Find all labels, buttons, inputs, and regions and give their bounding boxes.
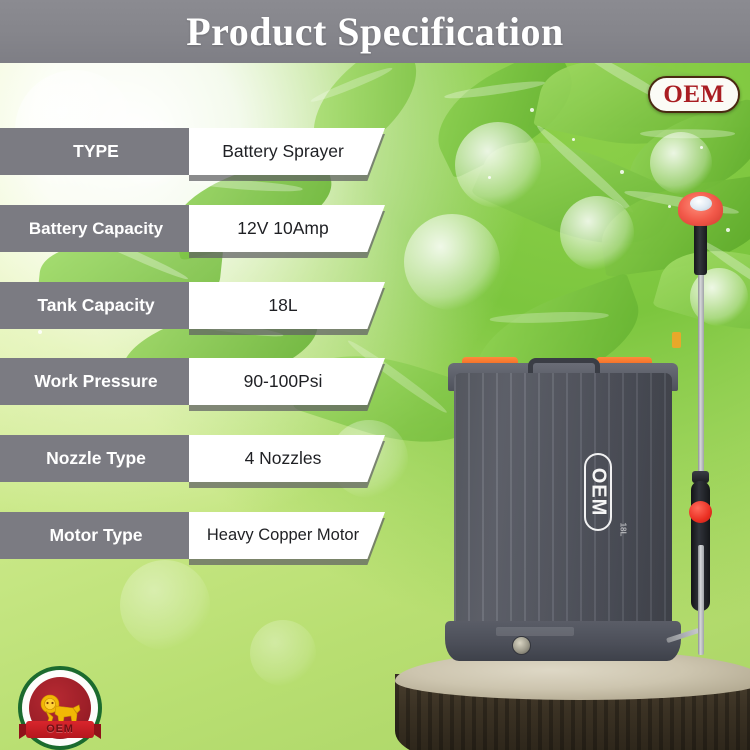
spec-label-motor-type: Motor Type: [0, 512, 192, 559]
spec-label-text: TYPE: [73, 142, 119, 160]
oem-badge: OEM: [648, 76, 740, 113]
oem-badge-label: OEM: [663, 82, 724, 107]
brand-logo: OEM: [18, 666, 102, 750]
spec-value-motor-type: Heavy Copper Motor: [189, 512, 385, 559]
nozzle-disc: [690, 196, 712, 211]
product-image-battery-sprayer: OEM 18L: [440, 185, 750, 685]
spec-value-text: 4 Nozzles: [245, 449, 322, 468]
base-gauge-icon: [512, 636, 531, 655]
spec-value-text: 90-100Psi: [244, 372, 323, 391]
spec-value-battery-capacity: 12V 10Amp: [189, 205, 385, 252]
spec-value-type: Battery Sprayer: [189, 128, 385, 175]
spec-value-tank-capacity: 18L: [189, 282, 385, 329]
spec-row-battery-capacity: Battery Capacity 12V 10Amp: [0, 205, 400, 252]
header-bar: Product Specification: [0, 0, 750, 63]
spec-label-text: Tank Capacity: [37, 296, 154, 314]
tank-body: [454, 373, 672, 628]
spec-label-battery-capacity: Battery Capacity: [0, 205, 192, 252]
ribbon-label: OEM: [46, 724, 73, 735]
spec-label-text: Work Pressure: [34, 372, 157, 390]
spec-value-text: Battery Sprayer: [222, 142, 344, 161]
spec-value-work-pressure: 90-100Psi: [189, 358, 385, 405]
tank-oem-logo: OEM: [584, 453, 612, 531]
ribbon-band: OEM: [26, 721, 94, 738]
spec-row-motor-type: Motor Type Heavy Copper Motor: [0, 512, 400, 559]
spec-row-nozzle-type: Nozzle Type 4 Nozzles: [0, 435, 400, 482]
product-specification-poster: OEM 18L Product Specification OEM TYPE B…: [0, 0, 750, 750]
lance-rod-upper: [698, 270, 704, 485]
spec-label-type: TYPE: [0, 128, 192, 175]
spec-label-text: Battery Capacity: [29, 220, 163, 238]
spec-label-work-pressure: Work Pressure: [0, 358, 192, 405]
spec-label-tank-capacity: Tank Capacity: [0, 282, 192, 329]
lance-clip: [672, 332, 681, 348]
spec-value-text: Heavy Copper Motor: [207, 527, 359, 545]
spec-row-tank-capacity: Tank Capacity 18L: [0, 282, 400, 329]
spec-value-text: 18L: [268, 296, 297, 315]
spec-label-nozzle-type: Nozzle Type: [0, 435, 192, 482]
base-panel: [496, 627, 574, 636]
page-title: Product Specification: [186, 12, 564, 52]
lance-rod-lower: [698, 545, 704, 655]
spec-label-text: Motor Type: [49, 526, 142, 544]
logo-ribbon: OEM: [19, 718, 101, 742]
spec-label-text: Nozzle Type: [46, 449, 146, 467]
spec-row-work-pressure: Work Pressure 90-100Psi: [0, 358, 400, 405]
tank-oem-logo-text: OEM: [588, 468, 608, 517]
spec-value-nozzle-type: 4 Nozzles: [189, 435, 385, 482]
lance-trigger-button: [689, 501, 712, 523]
tank-volume-marking: 18L: [618, 523, 627, 537]
spec-value-text: 12V 10Amp: [237, 219, 328, 238]
spec-row-type: TYPE Battery Sprayer: [0, 128, 400, 175]
